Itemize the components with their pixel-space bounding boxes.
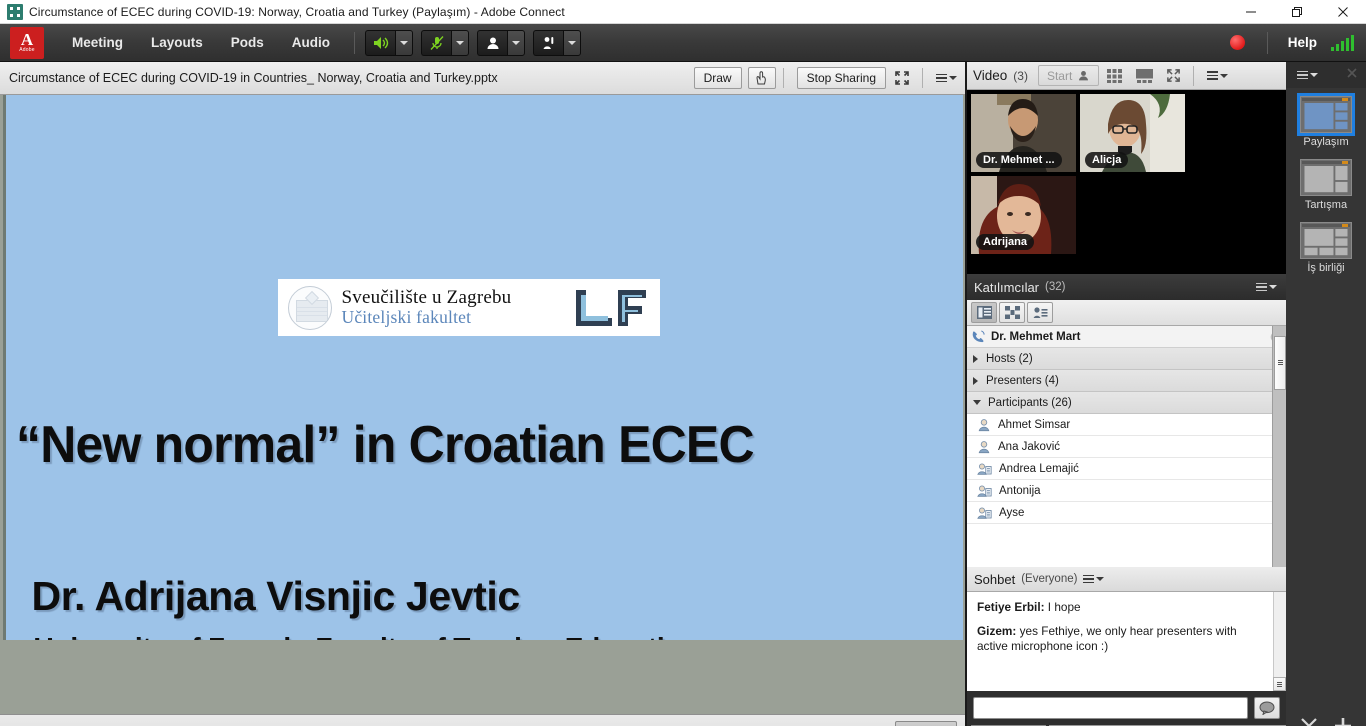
thumbnail-titlebar <box>1302 224 1350 227</box>
camera-button[interactable] <box>477 30 507 56</box>
left-column: Circumstance of ECEC during COVID-19 in … <box>0 62 966 726</box>
video-fullscreen-icon[interactable] <box>1160 64 1186 88</box>
layout-label: Tartışma <box>1305 199 1347 211</box>
grid-layout-icon[interactable] <box>1102 64 1128 88</box>
right-column: Video (3) Start <box>966 62 1286 726</box>
hamburger-lines <box>1297 71 1308 80</box>
layout-thumbnail <box>1300 159 1352 196</box>
person-screen-icon <box>977 462 992 476</box>
speaker-control-group <box>365 30 413 56</box>
chevron-down-icon <box>512 41 520 45</box>
forward-arrow-icon[interactable] <box>38 719 68 726</box>
menubar-divider <box>354 32 355 54</box>
layout-label: Paylaşım <box>1303 136 1348 148</box>
person-screen-icon <box>977 506 992 520</box>
participant-row[interactable]: Ana Jaković <box>967 436 1286 458</box>
chat-message-text: I hope <box>1045 600 1081 614</box>
university-seal-icon <box>288 286 332 330</box>
participants-pod-title: Katılımcılar <box>974 280 1039 295</box>
chevron-right-icon <box>973 355 978 363</box>
video-tile-name: Dr. Mehmet ... <box>976 152 1062 168</box>
faculty-name-line: Učiteljski fakultet <box>342 308 572 328</box>
participant-group-presenters[interactable]: Presenters (4) <box>967 370 1286 392</box>
thumbnail-titlebar <box>1302 98 1350 101</box>
participant-group-hosts[interactable]: Hosts (2) <box>967 348 1286 370</box>
chat-bubble-icon <box>1259 701 1275 715</box>
pods-view-button[interactable] <box>999 302 1025 323</box>
menu-pods[interactable]: Pods <box>217 24 278 62</box>
layout-item-is-birligi[interactable]: İş birliği <box>1286 222 1366 274</box>
raise-hand-dropdown-button[interactable] <box>563 30 581 56</box>
layout-thumbnail <box>1300 96 1352 133</box>
back-arrow-icon[interactable] <box>8 719 38 726</box>
pod-menu-icon[interactable] <box>933 66 959 90</box>
slide-presenter-name: Dr. Adrijana Visnjic Jevtic <box>32 573 520 620</box>
application-menubar: A Adobe Meeting Layouts Pods Audio Help <box>0 24 1366 62</box>
filmstrip-layout-icon[interactable] <box>1131 64 1157 88</box>
video-tile[interactable]: Alicja <box>1080 94 1185 172</box>
chat-message-sender: Fetiye Erbil: <box>977 600 1045 614</box>
participants-pod-menu-icon[interactable] <box>1253 275 1279 299</box>
adobe-logo-word: Adobe <box>19 47 34 53</box>
person-icon <box>977 418 991 432</box>
adobe-connect-icon <box>7 4 23 20</box>
share-header-divider <box>783 68 784 88</box>
pointer-hand-icon[interactable] <box>748 67 776 89</box>
layout-thumbnail <box>1300 222 1352 259</box>
stop-sharing-button[interactable]: Stop Sharing <box>797 67 886 89</box>
status-view-button[interactable] <box>1027 302 1053 323</box>
participant-row[interactable]: Ayse <box>967 502 1286 524</box>
chat-pod: Sohbet (Everyone) Fetiye Erbil: I hope G… <box>966 567 1286 726</box>
chat-input-row <box>967 691 1286 725</box>
list-view-button[interactable] <box>971 302 997 323</box>
microphone-dropdown-button[interactable] <box>451 30 469 56</box>
chevron-down-icon <box>1269 285 1277 289</box>
participant-self-name: Dr. Mehmet Mart <box>991 331 1270 343</box>
window-restore-button[interactable] <box>1274 0 1320 24</box>
layout-rail-menu-icon[interactable] <box>1294 63 1320 87</box>
microphone-control-group <box>421 30 469 56</box>
share-pod: Circumstance of ECEC during COVID-19 in … <box>0 62 966 726</box>
speaker-button[interactable] <box>365 30 395 56</box>
layout-rail-header <box>1286 62 1366 88</box>
adobe-logo-letter: A <box>21 32 33 47</box>
hamburger-lines <box>1083 575 1094 584</box>
video-tile-name: Alicja <box>1085 152 1128 168</box>
menu-layouts[interactable]: Layouts <box>137 24 217 62</box>
participant-name: Ana Jaković <box>998 441 1060 453</box>
participant-row[interactable]: Ahmet Simsar <box>967 414 1286 436</box>
fullscreen-icon[interactable] <box>889 66 915 90</box>
layout-list: Paylaşım Tartışma <box>1286 88 1366 706</box>
slide-title: “New normal” in Croatian ECEC <box>16 415 918 475</box>
participants-list[interactable]: Dr. Mehmet Mart Hosts (2) Presenters (4)… <box>967 326 1286 567</box>
adobe-logo-icon: A Adobe <box>10 27 44 59</box>
window-close-button[interactable] <box>1320 0 1366 24</box>
chat-input[interactable] <box>973 697 1248 719</box>
group-label: Presenters (4) <box>986 375 1059 387</box>
person-icon <box>1077 69 1090 82</box>
chevron-down-icon <box>1310 73 1318 77</box>
chat-scrollbar[interactable] <box>1273 592 1286 691</box>
chat-pod-title: Sohbet <box>974 572 1015 587</box>
video-pod-menu-icon[interactable] <box>1204 64 1230 88</box>
speaker-dropdown-button[interactable] <box>395 30 413 56</box>
chat-send-button[interactable] <box>1254 697 1280 719</box>
participant-name: Andrea Lemajić <box>999 463 1079 475</box>
menu-audio[interactable]: Audio <box>278 24 344 62</box>
person-icon <box>977 440 991 454</box>
recording-indicator[interactable] <box>1230 35 1245 50</box>
menu-help[interactable]: Help <box>1278 35 1327 50</box>
uf-monogram-icon <box>572 286 650 330</box>
slide-viewport[interactable]: Sveučilište u Zagrebu Učiteljski fakulte… <box>0 95 965 714</box>
connection-signal-icon[interactable] <box>1331 35 1354 51</box>
chat-message-text: yes Fethiye, we only hear presenters wit… <box>977 624 1237 653</box>
chevron-down-icon <box>456 41 464 45</box>
menubar-divider-right <box>1267 32 1268 54</box>
university-name-line: Sveučilište u Zagrebu <box>342 287 572 308</box>
participants-pod-count: (32) <box>1045 281 1065 293</box>
chevron-right-icon <box>973 377 978 385</box>
group-label: Participants (26) <box>988 397 1072 409</box>
video-start-label: Start <box>1047 69 1072 83</box>
chevron-down-icon <box>973 400 981 405</box>
hamburger-lines <box>936 74 947 83</box>
participant-name: Ayse <box>999 507 1024 519</box>
share-pod-header: Circumstance of ECEC during COVID-19 in … <box>0 62 965 95</box>
video-tiles-container: Dr. Mehmet ... <box>967 90 1286 274</box>
raise-hand-button[interactable] <box>533 30 563 56</box>
hamburger-lines <box>1256 283 1267 292</box>
raise-hand-control-group <box>533 30 581 56</box>
share-header-divider-2 <box>922 68 923 88</box>
participant-group-participants[interactable]: Participants (26) <box>967 392 1286 414</box>
chevron-down-icon <box>400 41 408 45</box>
sync-button[interactable]: Sync <box>895 721 957 726</box>
video-pod: Video (3) Start <box>966 62 1286 274</box>
sidebar-panel-icon[interactable] <box>68 719 98 726</box>
plus-icon[interactable] <box>1332 715 1354 726</box>
layout-label: İş birliği <box>1307 262 1344 274</box>
chat-pod-menu-icon[interactable] <box>1080 567 1106 591</box>
participants-view-toolbar <box>967 300 1286 326</box>
phone-icon <box>971 330 986 343</box>
layout-rail: Paylaşım Tartışma <box>1286 62 1366 726</box>
layout-item-paylasim[interactable]: Paylaşım <box>1286 96 1366 148</box>
window-title: Circumstance of ECEC during COVID-19: No… <box>29 5 565 19</box>
participants-pod-header: Katılımcılar (32) <box>967 274 1286 300</box>
video-header-divider <box>1193 66 1194 86</box>
video-pod-count: (3) <box>1013 69 1028 83</box>
chat-messages[interactable]: Fetiye Erbil: I hope Gizem: yes Fethiye,… <box>967 592 1286 691</box>
video-pod-header: Video (3) Start <box>967 62 1286 90</box>
layout-preview <box>1304 103 1348 132</box>
participant-row[interactable]: Andrea Lemajić <box>967 458 1286 480</box>
chevron-down-icon <box>1220 74 1228 78</box>
scissors-icon[interactable] <box>1298 715 1320 726</box>
thumbnail-titlebar <box>1302 161 1350 164</box>
hamburger-lines <box>1207 71 1218 80</box>
video-tile[interactable]: Adrijana <box>971 176 1076 254</box>
participant-name: Antonija <box>999 485 1041 497</box>
university-logo: Sveučilište u Zagrebu Učiteljski fakulte… <box>278 279 660 336</box>
menu-meeting[interactable]: Meeting <box>58 24 137 62</box>
scrollbar-thumb[interactable] <box>1274 336 1286 390</box>
layout-preview <box>1304 229 1348 258</box>
chat-message-sender: Gizem: <box>977 624 1016 638</box>
chat-pod-header: Sohbet (Everyone) <box>967 567 1286 592</box>
participant-name: Ahmet Simsar <box>998 419 1070 431</box>
video-tile-name: Adrijana <box>976 234 1034 250</box>
window-titlebar: Circumstance of ECEC during COVID-19: No… <box>0 0 1366 24</box>
participants-pod: Katılımcılar (32) <box>966 274 1286 567</box>
layout-rail-footer <box>1286 706 1366 726</box>
chevron-down-icon <box>949 76 957 80</box>
participants-scrollbar[interactable] <box>1272 326 1286 567</box>
video-tile[interactable]: Dr. Mehmet ... <box>971 94 1076 172</box>
layout-preview <box>1304 166 1348 195</box>
camera-control-group <box>477 30 525 56</box>
chat-pod-scope: (Everyone) <box>1021 573 1077 585</box>
presentation-slide: Sveučilište u Zagrebu Učiteljski fakulte… <box>3 95 963 640</box>
chat-message: Fetiye Erbil: I hope <box>977 600 1274 615</box>
camera-dropdown-button[interactable] <box>507 30 525 56</box>
group-label: Hosts (2) <box>986 353 1033 365</box>
person-screen-icon <box>977 484 992 498</box>
slide-affiliation: University of Zagreb, Faculty of Teacher… <box>34 632 699 640</box>
share-pod-title: Circumstance of ECEC during COVID-19 in … <box>9 71 688 85</box>
video-start-button[interactable]: Start <box>1038 65 1099 86</box>
draw-button[interactable]: Draw <box>694 67 742 89</box>
scrollbar-thumb[interactable] <box>1273 677 1286 691</box>
layout-item-tartisma[interactable]: Tartışma <box>1286 159 1366 211</box>
window-minimize-button[interactable] <box>1228 0 1274 24</box>
university-logo-text: Sveučilište u Zagrebu Učiteljski fakulte… <box>342 287 572 328</box>
chat-message: Gizem: yes Fethiye, we only hear present… <box>977 624 1274 654</box>
microphone-button[interactable] <box>421 30 451 56</box>
chevron-down-icon <box>1096 577 1104 581</box>
chevron-down-icon <box>568 41 576 45</box>
participant-self-row[interactable]: Dr. Mehmet Mart <box>967 326 1286 348</box>
video-pod-title: Video <box>973 68 1007 83</box>
participant-row[interactable]: Antonija <box>967 480 1286 502</box>
share-pod-footer: Sync <box>0 714 965 726</box>
layout-rail-close-icon[interactable] <box>1346 66 1358 84</box>
main-body: Circumstance of ECEC during COVID-19 in … <box>0 62 1366 726</box>
